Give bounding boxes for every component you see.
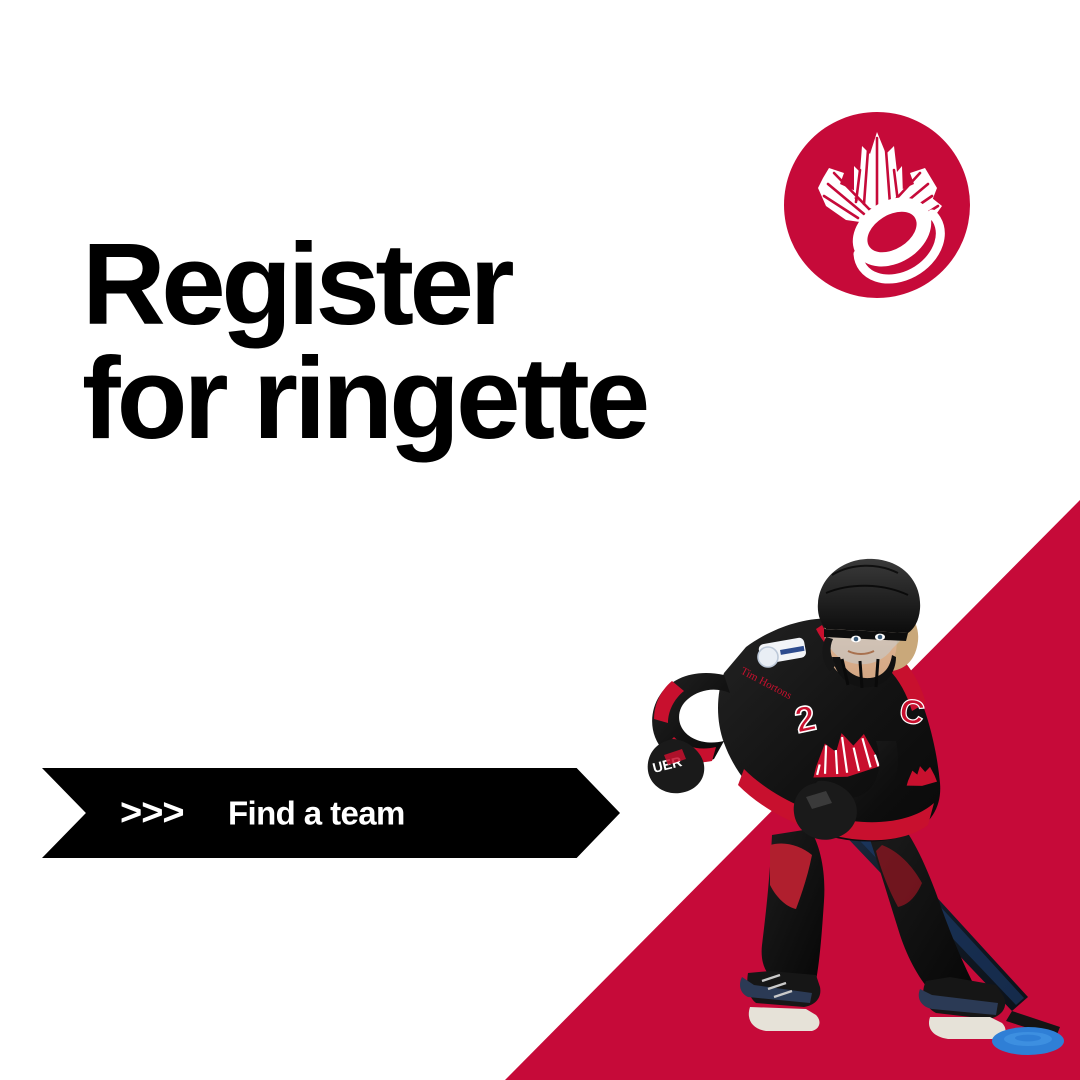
jersey-sponsor-patch — [758, 637, 807, 667]
jersey-captain-patch: C — [897, 691, 928, 733]
glove-brand: UER — [651, 753, 684, 776]
jersey-hip-leaf-icon — [905, 765, 938, 788]
cta-content: >>> Find a team — [42, 768, 620, 858]
ringette-canada-logo[interactable] — [782, 110, 972, 300]
page-title: Register for ringette — [82, 228, 646, 455]
skate-laces — [762, 975, 792, 997]
player-left-leg — [740, 829, 824, 1031]
svg-text:C: C — [897, 691, 928, 733]
player-head — [818, 559, 920, 688]
sleeve-script: Tim Hortons — [739, 665, 794, 702]
player-stick-blade — [1006, 1011, 1060, 1037]
player-jersey: 2 C — [718, 618, 940, 841]
headline-line-2: for ringette — [82, 342, 646, 456]
jersey-number: 2 — [791, 697, 819, 741]
player-right-arm — [794, 741, 898, 840]
player-left-arm: UER — [648, 673, 730, 793]
svg-text:2: 2 — [791, 697, 819, 741]
cta-label: Find a team — [228, 797, 405, 830]
player-stick — [738, 715, 1028, 1011]
jersey-crest-icon — [808, 728, 881, 781]
player-right-leg — [864, 813, 1005, 1039]
find-a-team-button[interactable]: >>> Find a team — [42, 768, 620, 858]
ringette-ring — [992, 1027, 1064, 1055]
headline-line-1: Register — [82, 228, 646, 342]
chevron-right-icon: >>> — [120, 794, 184, 832]
helmet-cage — [842, 659, 878, 688]
poster-canvas: Register for ringette — [0, 0, 1080, 1080]
ringette-player-photo: 2 C — [620, 545, 1080, 1055]
